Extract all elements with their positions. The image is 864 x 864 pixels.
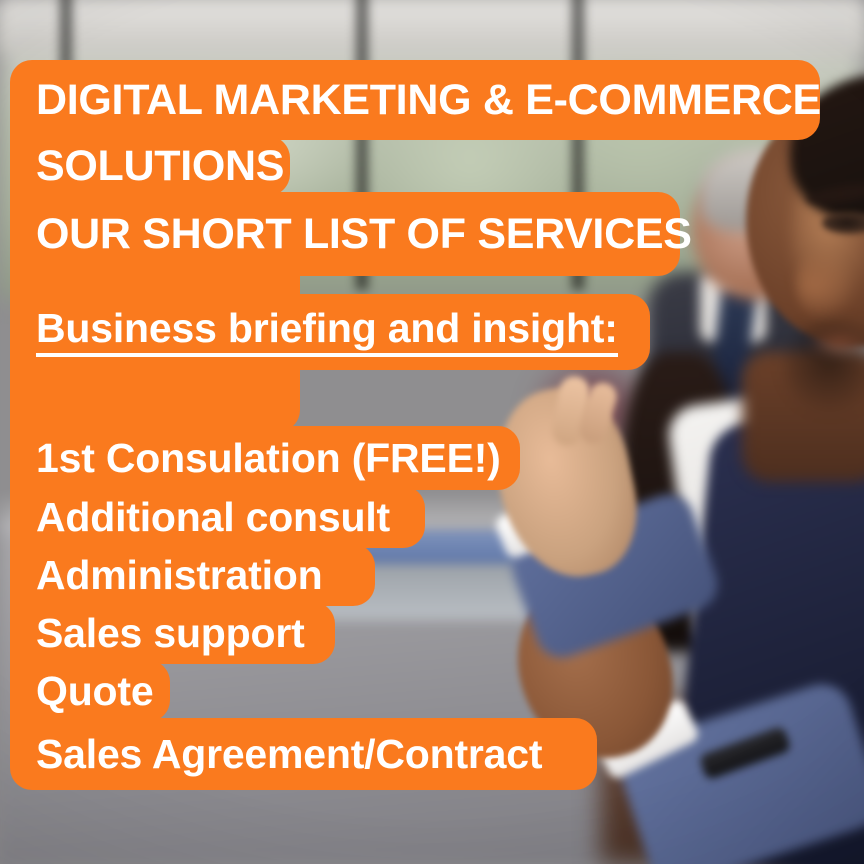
service-item-1: 1st Consulation (FREE!) bbox=[10, 426, 520, 490]
heading-line-3-text: OUR SHORT LIST OF SERVICES bbox=[36, 210, 692, 259]
service-item-1-label: 1st Consulation (FREE!) bbox=[36, 435, 501, 482]
service-item-3-label: Administration bbox=[36, 552, 322, 599]
service-item-5: Quote bbox=[10, 660, 170, 722]
service-item-4-label: Sales support bbox=[36, 610, 305, 657]
subheading-list-connector bbox=[10, 362, 300, 432]
service-item-4: Sales support bbox=[10, 602, 335, 664]
heading-line-1: DIGITAL MARKETING & E-COMMERCE bbox=[10, 60, 820, 140]
heading-line-3: OUR SHORT LIST OF SERVICES bbox=[10, 192, 680, 276]
service-item-3: Administration bbox=[10, 544, 375, 606]
service-item-5-label: Quote bbox=[36, 668, 153, 715]
service-item-2-label: Additional consult bbox=[36, 494, 390, 541]
heading-line-2: SOLUTIONS bbox=[10, 136, 290, 196]
promo-graphic: DIGITAL MARKETING & E-COMMERCE SOLUTIONS… bbox=[0, 0, 864, 864]
service-item-2: Additional consult bbox=[10, 486, 425, 548]
service-item-6: Sales Agreement/Contract bbox=[10, 718, 597, 790]
heading-line-2-text: SOLUTIONS bbox=[36, 142, 284, 191]
subheading-text: Business briefing and insight: bbox=[36, 307, 618, 356]
subheading: Business briefing and insight: bbox=[10, 294, 650, 370]
orange-text-overlay: DIGITAL MARKETING & E-COMMERCE SOLUTIONS… bbox=[0, 0, 864, 864]
heading-line-1-text: DIGITAL MARKETING & E-COMMERCE bbox=[36, 76, 821, 125]
service-item-6-label: Sales Agreement/Contract bbox=[36, 731, 542, 778]
